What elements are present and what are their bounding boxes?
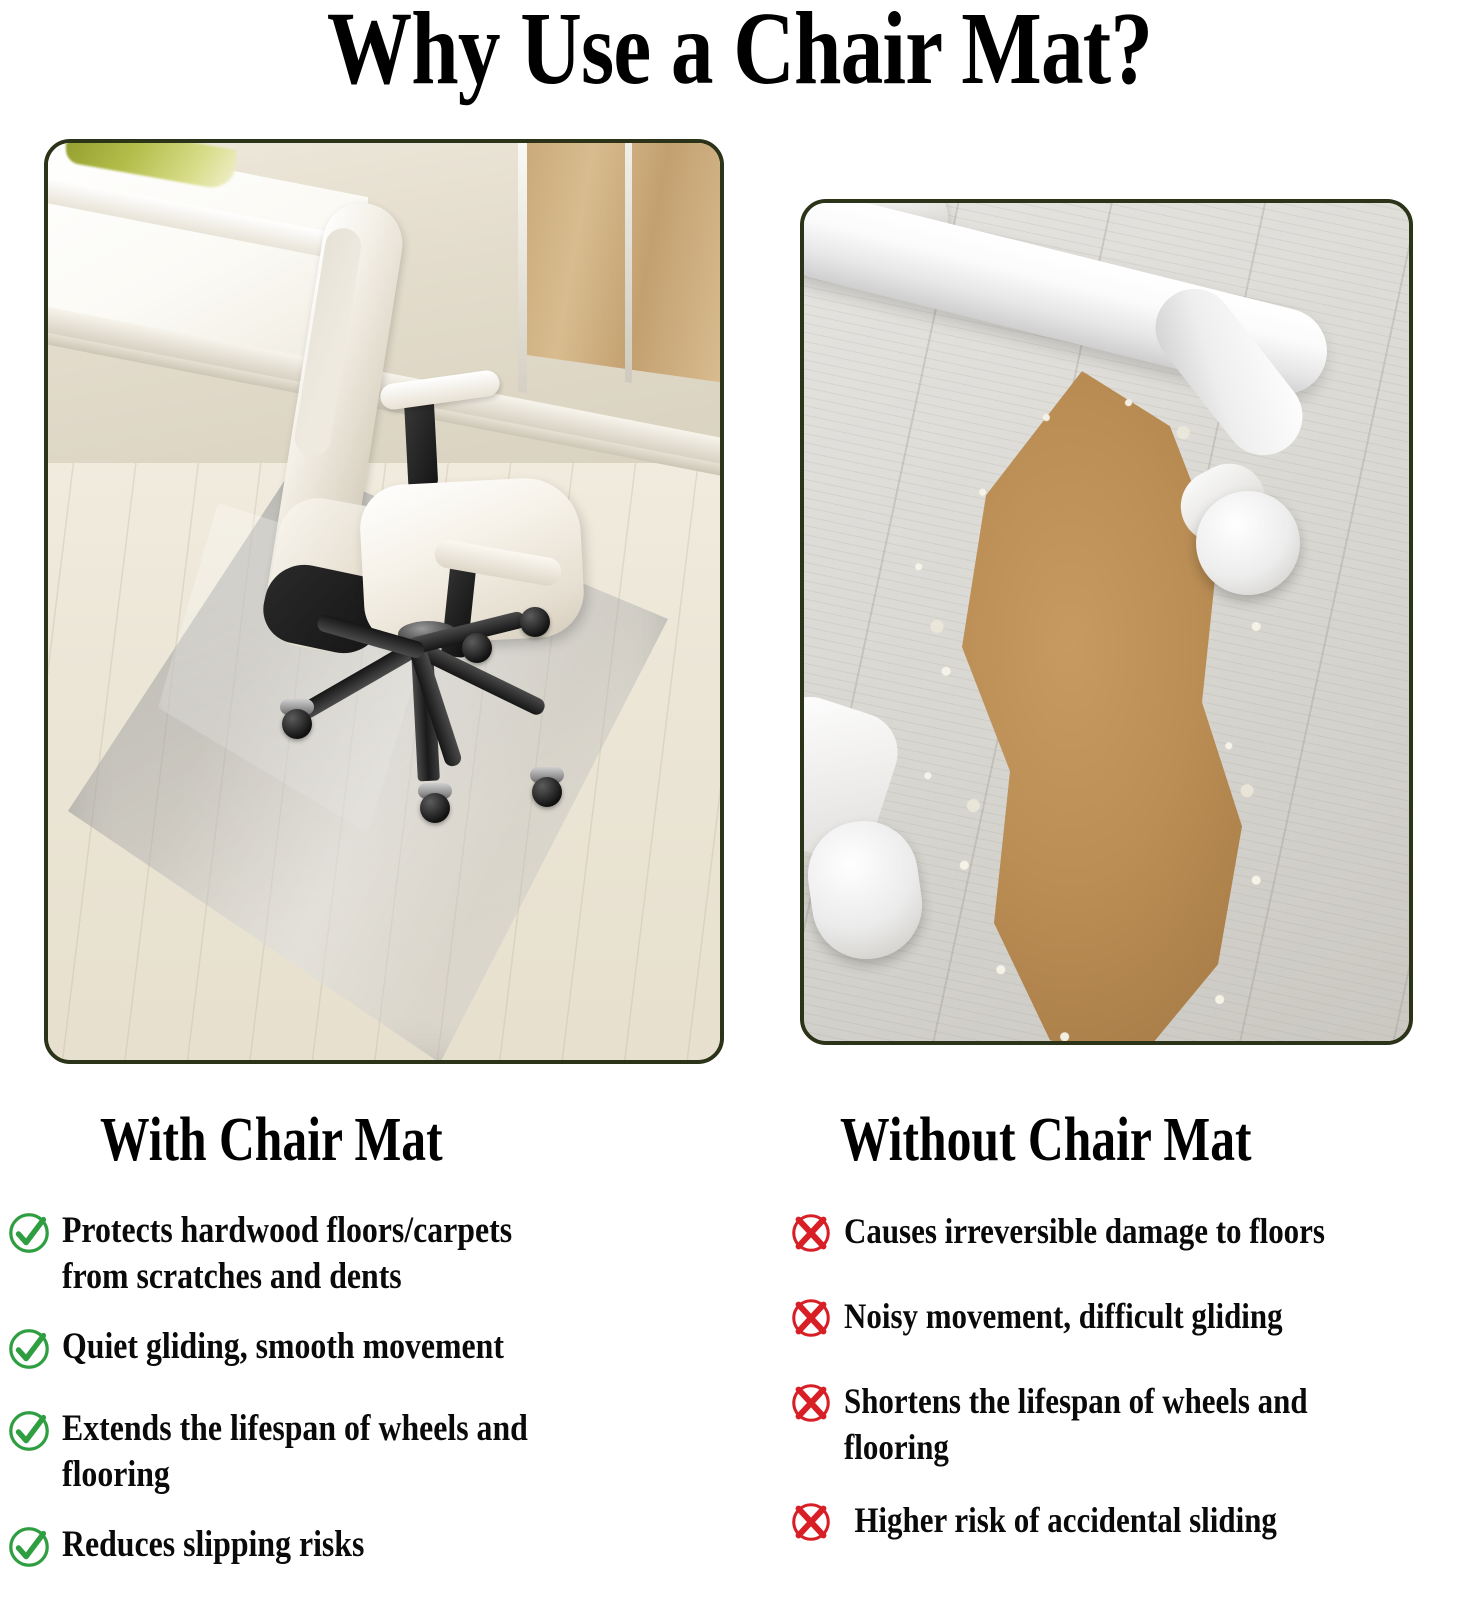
- cross-circle-icon: [788, 1210, 834, 1256]
- list-item: Noisy movement, difficult gliding: [788, 1293, 1478, 1351]
- photo-without-chair-mat-scene: [804, 203, 1409, 1041]
- chair-caster: [282, 709, 312, 739]
- wardrobe-divider: [625, 143, 632, 383]
- check-circle-icon: [6, 1210, 52, 1256]
- page-title: Why Use a Chair Mat?: [133, 0, 1346, 104]
- list-item-label: Noisy movement, difficult gliding: [844, 1293, 1283, 1339]
- chair-caster: [532, 777, 562, 807]
- check-circle-icon: [6, 1408, 52, 1454]
- list-item-label: Reduces slipping risks: [62, 1522, 364, 1568]
- list-item: Quiet gliding, smooth movement: [6, 1324, 736, 1382]
- list-item: Causes irreversible damage to floors: [788, 1208, 1478, 1266]
- chair-caster: [420, 793, 450, 823]
- list-item-label: Quiet gliding, smooth movement: [62, 1324, 504, 1370]
- heading-without-chair-mat: Without Chair Mat: [840, 1108, 1252, 1172]
- list-item: Reduces slipping risks: [6, 1522, 736, 1580]
- photo-with-chair-mat: [44, 139, 724, 1064]
- chair-armrest-rear: [379, 369, 501, 411]
- check-circle-icon: [6, 1524, 52, 1570]
- check-circle-icon: [6, 1326, 52, 1372]
- benefits-list: Protects hardwood floors/carpets from sc…: [6, 1208, 736, 1604]
- cross-circle-icon: [788, 1380, 834, 1426]
- list-item: Extends the lifespan of wheels and floor…: [6, 1406, 736, 1498]
- chair-caster-mid: [1196, 491, 1300, 595]
- list-item-label: Higher risk of accidental sliding: [844, 1497, 1277, 1543]
- heading-with-chair-mat: With Chair Mat: [100, 1108, 443, 1172]
- list-item: Shortens the lifespan of wheels and floo…: [788, 1378, 1478, 1470]
- cross-circle-icon: [788, 1499, 834, 1545]
- drawbacks-list: Causes irreversible damage to floors Noi…: [788, 1208, 1478, 1582]
- chair-caster: [520, 607, 550, 637]
- list-item-label: Causes irreversible damage to floors: [844, 1208, 1325, 1254]
- office-chair: [258, 201, 588, 861]
- chair-caster: [462, 633, 492, 663]
- list-item-label: Protects hardwood floors/carpets from sc…: [62, 1208, 512, 1300]
- list-item-label: Extends the lifespan of wheels and floor…: [62, 1406, 642, 1498]
- list-item-label: Shortens the lifespan of wheels and floo…: [844, 1378, 1389, 1470]
- photo-with-chair-mat-scene: [48, 143, 720, 1060]
- list-item: Protects hardwood floors/carpets from sc…: [6, 1208, 736, 1300]
- photo-without-chair-mat: [800, 199, 1413, 1045]
- cross-circle-icon: [788, 1295, 834, 1341]
- list-item: Higher risk of accidental sliding: [788, 1497, 1478, 1555]
